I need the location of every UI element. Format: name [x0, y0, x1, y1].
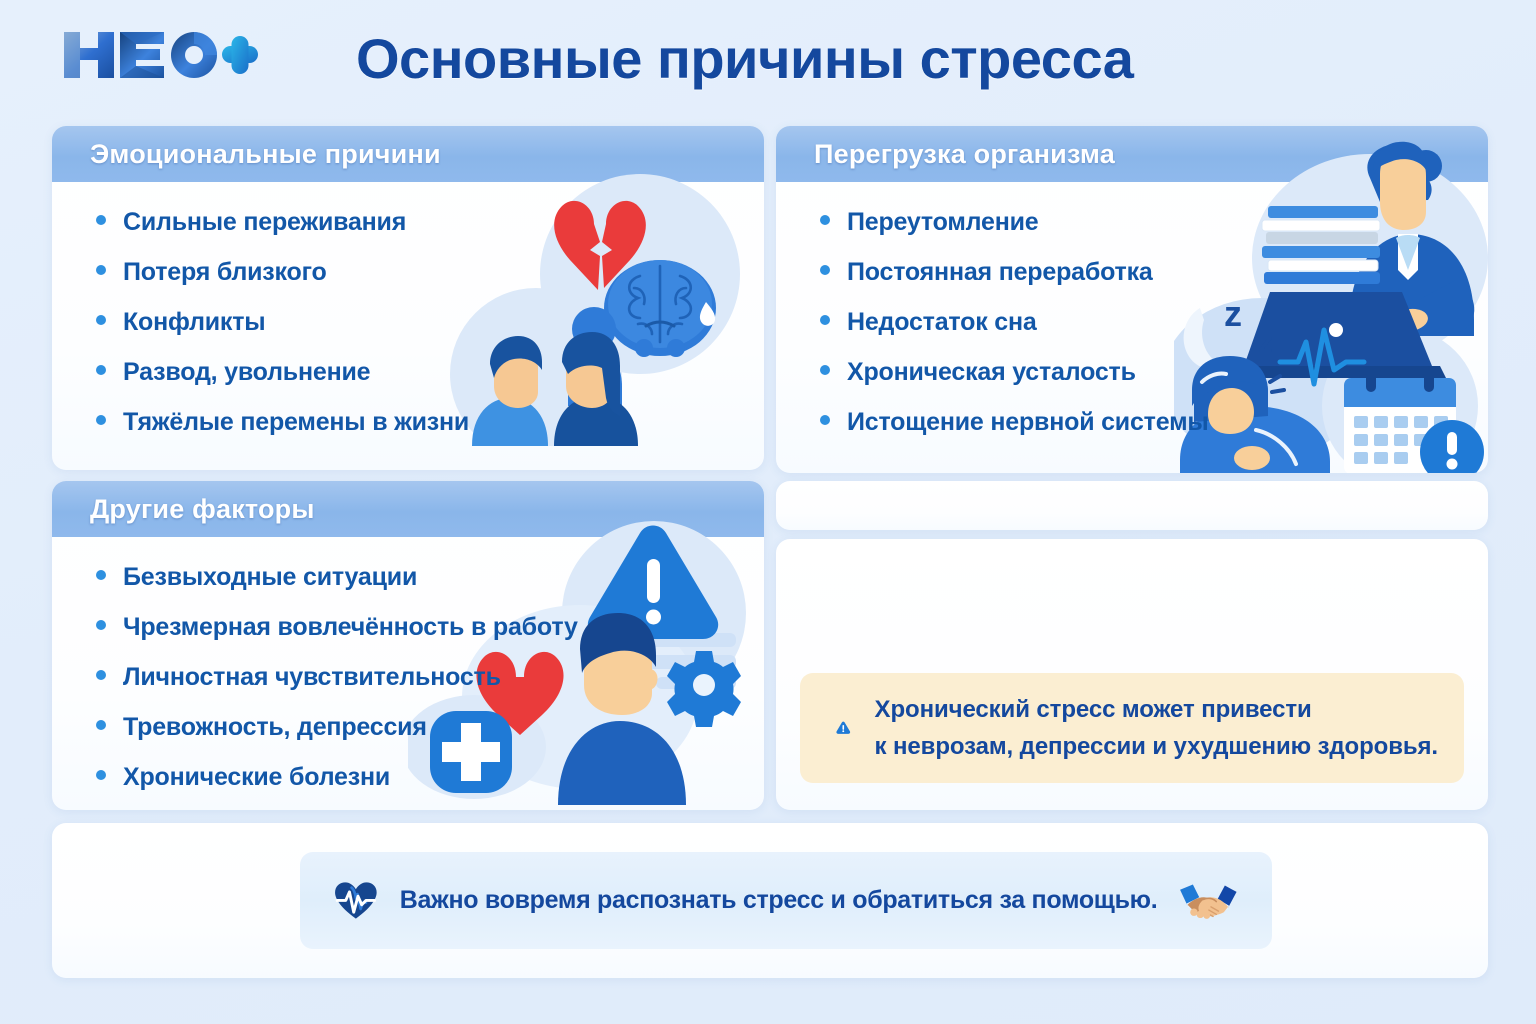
list-item: Личностная чувствительность — [96, 663, 734, 692]
list-item-label: Потеря близкого — [123, 258, 327, 287]
card-title-other: Другие факторы — [90, 494, 315, 525]
list-item-label: Чрезмерная вовлечённость в работу — [123, 613, 578, 642]
bullet-dot-icon — [96, 315, 106, 325]
bullet-dot-icon — [96, 570, 106, 580]
card-header-emotional: Эмоциональные причини — [52, 126, 764, 182]
bullet-dot-icon — [96, 265, 106, 275]
neo-plus-logo-icon — [58, 24, 258, 86]
bullet-dot-icon — [820, 365, 830, 375]
list-item-label: Истощение нервной системы — [847, 408, 1209, 437]
list-item: Конфликты — [96, 308, 734, 337]
list-item: Хронические болезни — [96, 763, 734, 792]
list-item-label: Постоянная переработка — [847, 258, 1153, 287]
bullet-dot-icon — [820, 265, 830, 275]
list-item-label: Безвыходные ситуации — [123, 563, 417, 592]
card-title-overload: Перегрузка организма — [814, 139, 1115, 170]
list-item-label: Хроническая усталость — [847, 358, 1136, 387]
page-title: Основные причины стресса — [356, 26, 1156, 91]
list-item-label: Тяжёлые перемены в жизни — [123, 408, 469, 437]
card-body-overload-content: z z — [776, 182, 1488, 473]
list-item-label: Хронические болезни — [123, 763, 390, 792]
card-body-overload: Перегрузка организма — [776, 126, 1488, 473]
list-item: Тяжёлые перемены в жизни — [96, 408, 734, 437]
bullet-dot-icon — [96, 720, 106, 730]
page-header: Основные причины стресса — [0, 0, 1536, 118]
list-item: Истощение нервной системы — [820, 408, 1458, 437]
card-footer: Важно вовремя распознать стресс и обрати… — [52, 823, 1488, 978]
warning-triangle-icon — [836, 695, 851, 761]
list-item-label: Развод, увольнение — [123, 358, 370, 387]
card-body-emotional: Сильные переживания Потеря близкого Конф… — [52, 182, 764, 470]
card-title-emotional: Эмоциональные причини — [90, 139, 441, 170]
card-body-other-content: Безвыходные ситуации Чрезмерная вовлечён… — [52, 537, 764, 810]
warning-message: Хронический стресс может привести к невр… — [875, 691, 1438, 765]
list-item: Сильные переживания — [96, 208, 734, 237]
list-item: Чрезмерная вовлечённость в работу — [96, 613, 734, 642]
bullet-dot-icon — [96, 215, 106, 225]
list-item-label: Тревожность, депрессия — [123, 713, 427, 742]
card-other-factors: Другие факторы — [52, 481, 764, 810]
list-item: Безвыходные ситуации — [96, 563, 734, 592]
list-item: Недостаток сна — [820, 308, 1458, 337]
bullet-dot-icon — [820, 315, 830, 325]
list-other-factors: Безвыходные ситуации Чрезмерная вовлечён… — [96, 563, 734, 792]
list-overload-causes: Переутомление Постоянная переработка Нед… — [820, 208, 1458, 437]
bullet-dot-icon — [96, 415, 106, 425]
list-emotional-causes: Сильные переживания Потеря близкого Конф… — [96, 208, 734, 437]
card-emotional-causes: Эмоциональные причини — [52, 126, 764, 470]
card-warning-container: Хронический стресс может привести к невр… — [776, 539, 1488, 810]
list-item: Постоянная переработка — [820, 258, 1458, 287]
list-item: Тревожность, депрессия — [96, 713, 734, 742]
warning-callout: Хронический стресс может привести к невр… — [800, 673, 1464, 783]
bullet-dot-icon — [96, 365, 106, 375]
heart-pulse-icon — [334, 864, 378, 938]
card-header-other: Другие факторы — [52, 481, 764, 537]
bullet-dot-icon — [96, 770, 106, 780]
footer-message: Важно вовремя распознать стресс и обрати… — [400, 886, 1158, 915]
footer-callout: Важно вовремя распознать стресс и обрати… — [300, 852, 1272, 949]
list-item: Переутомление — [820, 208, 1458, 237]
brand-logo[interactable] — [58, 24, 258, 86]
warning-line-2: к неврозам, депрессии и ухудшению здоров… — [875, 728, 1438, 765]
handshake-icon — [1179, 864, 1238, 938]
list-item-label: Личностная чувствительность — [123, 663, 501, 692]
list-item-label: Конфликты — [123, 308, 265, 337]
list-item: Хроническая усталость — [820, 358, 1458, 387]
bullet-dot-icon — [820, 215, 830, 225]
bullet-dot-icon — [96, 670, 106, 680]
list-item: Развод, увольнение — [96, 358, 734, 387]
warning-line-1: Хронический стресс может привести — [875, 691, 1438, 728]
list-item-label: Сильные переживания — [123, 208, 406, 237]
card-spacer-right — [776, 481, 1488, 530]
bullet-dot-icon — [820, 415, 830, 425]
bullet-dot-icon — [96, 620, 106, 630]
list-item: Потеря близкого — [96, 258, 734, 287]
card-header-overload: Перегрузка организма — [776, 126, 1488, 182]
list-item-label: Недостаток сна — [847, 308, 1037, 337]
list-item-label: Переутомление — [847, 208, 1039, 237]
